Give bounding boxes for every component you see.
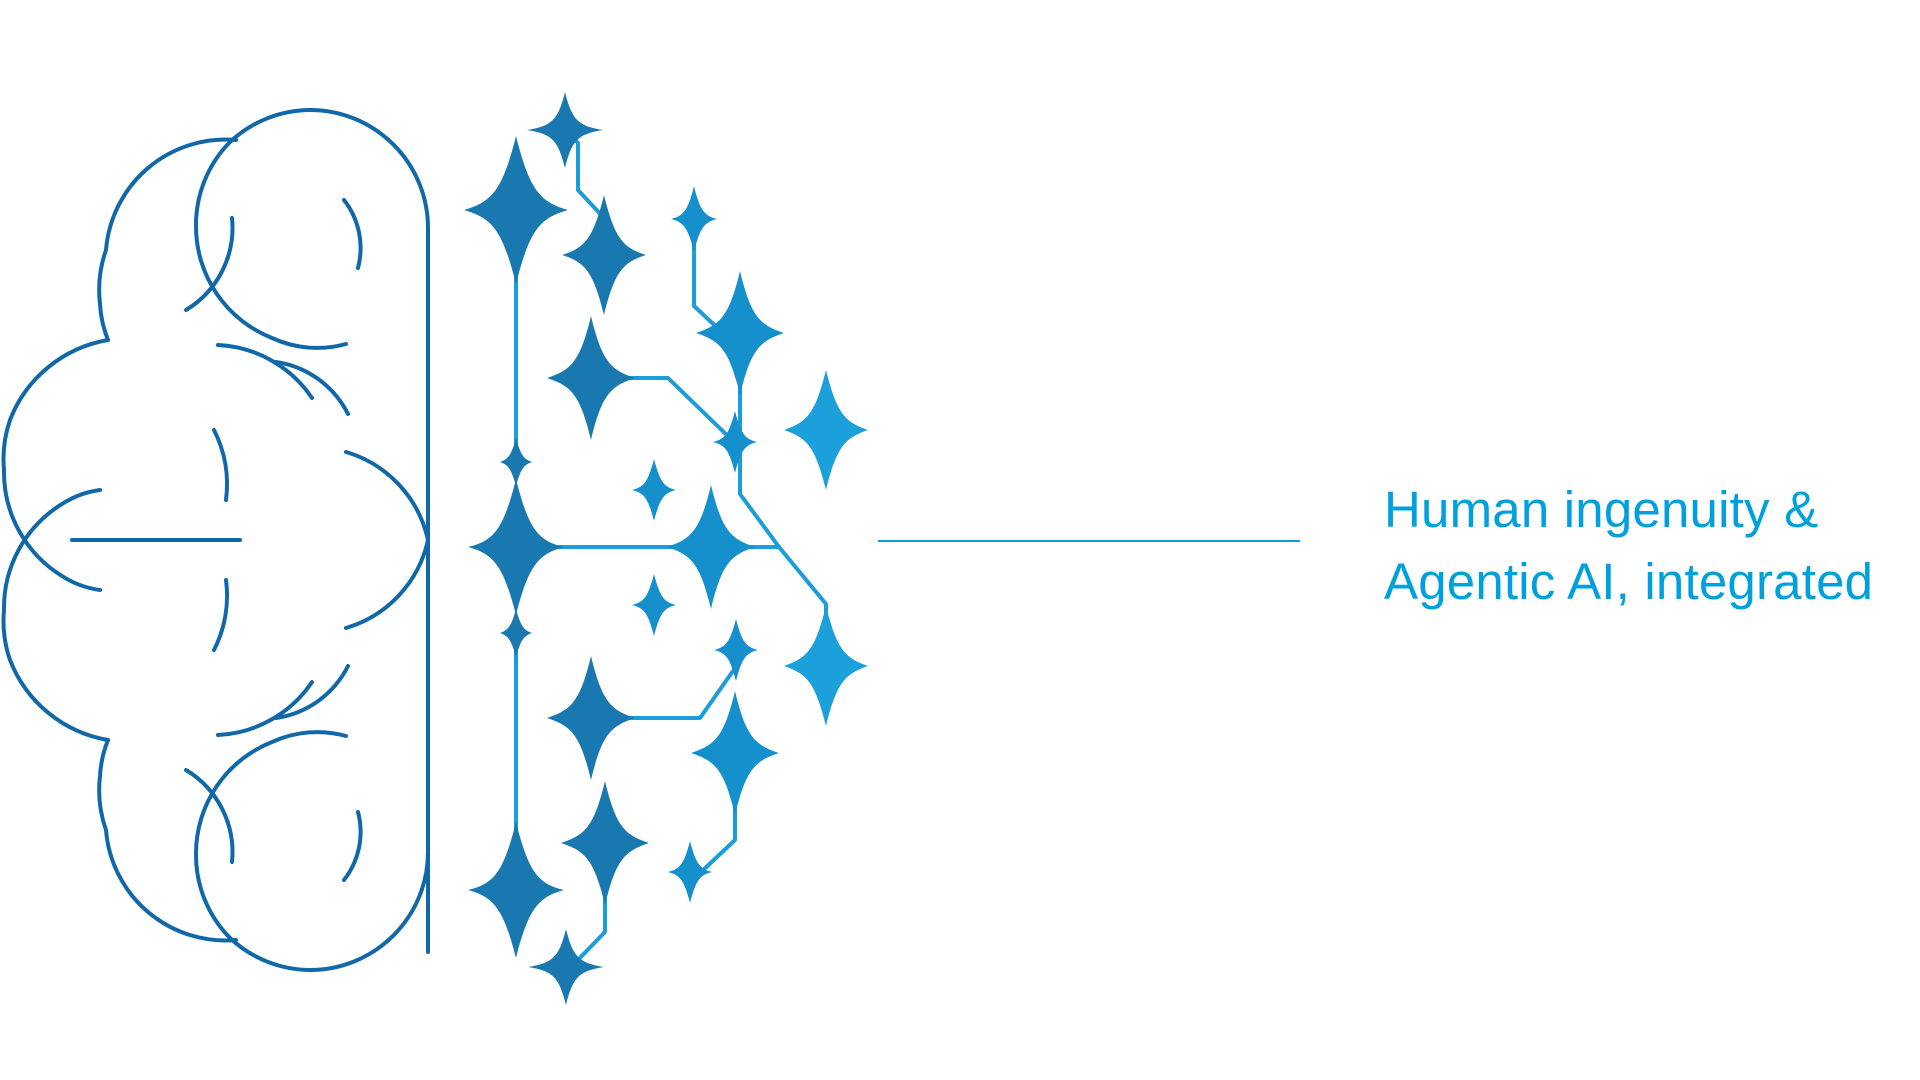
sparkle-node-tiny: [713, 411, 757, 473]
sparkle-node-micro: [500, 609, 532, 657]
sparkle-node-tiny: [671, 186, 717, 252]
brain-lobe-lower-parietal: [99, 740, 236, 940]
brain-outline-group: [3, 110, 428, 970]
sparkle-node-tiny: [714, 619, 758, 681]
sparkle-node-micro: [500, 438, 532, 486]
brain-lobe-lower-occipital: [196, 732, 346, 938]
brain-fold-upper-outer: [344, 200, 361, 268]
brain-lobe-upper-frontal: [196, 142, 346, 348]
brain-top-cap: [230, 110, 428, 228]
hero-banner: Human ingenuity & Agentic AI, integrated: [0, 0, 1920, 1080]
brain-fold-inner-vertical-lower: [214, 580, 227, 650]
sparkle-node-small: [527, 92, 603, 168]
brain-fold-spine-upper-branch: [346, 452, 428, 540]
brain-fold-upper-inner: [186, 218, 232, 310]
sparkle-node-medium: [562, 195, 646, 315]
brain-fold-lower-center: [218, 682, 312, 735]
brain-fold-upper-center: [218, 345, 312, 398]
brain-lobe-upper-parietal: [99, 140, 236, 340]
brain-fold-lower-branch: [346, 540, 428, 628]
connector-n4-n5: [694, 224, 724, 334]
sparkle-node-large: [464, 136, 568, 284]
network-connectors-group: [516, 136, 826, 964]
sparkle-node-medium: [696, 271, 784, 395]
sparkle-node-medium: [667, 485, 755, 609]
headline-line-2: Agentic AI, integrated: [1384, 546, 1904, 618]
connector-n5-junction: [740, 374, 779, 547]
headline-block: Human ingenuity & Agentic AI, integrated: [1384, 474, 1904, 618]
connector-n6-n7: [596, 378, 733, 441]
connector-n16-n17: [596, 651, 747, 718]
sparkle-node-large: [468, 479, 564, 615]
sparkle-node-tiny: [632, 459, 676, 521]
sparkle-node-medium: [547, 316, 635, 440]
sparkle-node-small: [528, 929, 604, 1005]
sparkle-node-medium: [561, 781, 649, 905]
sparkle-node-medium: [784, 606, 868, 726]
sparkle-node-medium: [784, 370, 868, 490]
brain-fold-lower-inner: [186, 770, 232, 862]
sparkle-node-large: [468, 822, 564, 958]
brain-fold-lower-outer: [344, 812, 361, 880]
brain-bottom-cap: [230, 852, 428, 970]
headline-line-1: Human ingenuity &: [1384, 474, 1904, 546]
brain-fold-inner-vertical-upper: [214, 430, 227, 500]
sparkle-node-medium: [547, 656, 635, 780]
sparkle-node-tiny: [668, 841, 712, 903]
connector-n1-n3: [572, 136, 604, 218]
sparkle-node-tiny: [632, 574, 676, 636]
